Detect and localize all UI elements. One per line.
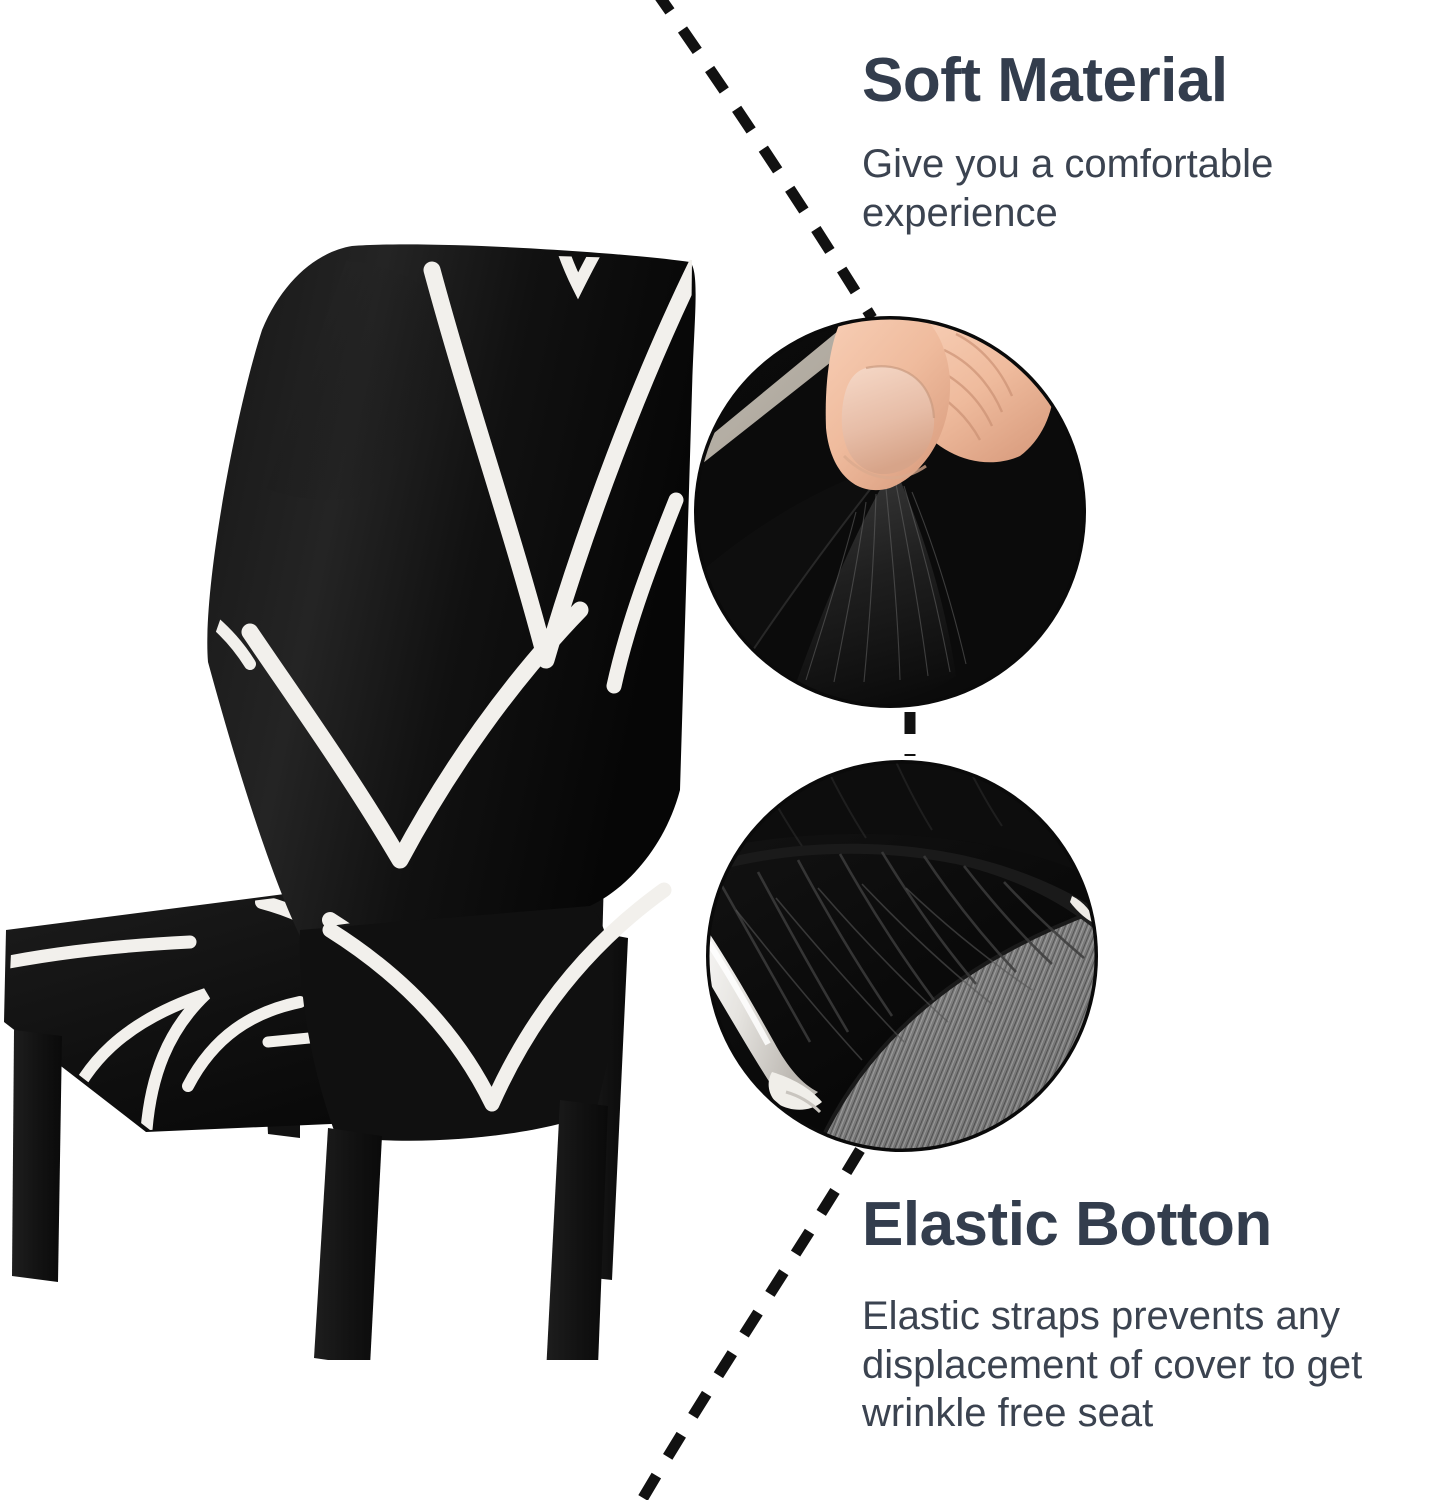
feature-headline-elastic-botton: Elastic Botton — [862, 1192, 1428, 1258]
feature-body-elastic-botton: Elastic straps prevents any displacement… — [862, 1258, 1428, 1438]
chair-product-image — [0, 230, 700, 1360]
feature-text-elastic-botton: Elastic Botton Elastic straps prevents a… — [862, 1192, 1428, 1438]
infographic-canvas: Soft Material Give you a comfortable exp… — [0, 0, 1436, 1500]
feature-body-soft-material: Give you a comfortable experience — [862, 114, 1422, 238]
feature-text-soft-material: Soft Material Give you a comfortable exp… — [862, 48, 1422, 237]
photo-inset-elastic-botton — [706, 760, 1098, 1152]
feature-headline-soft-material: Soft Material — [862, 48, 1422, 114]
photo-inset-soft-material — [694, 316, 1086, 708]
